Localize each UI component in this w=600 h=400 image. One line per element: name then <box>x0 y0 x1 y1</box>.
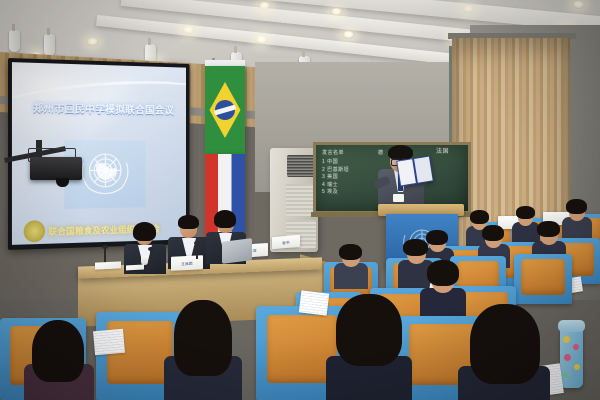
audience-delegate <box>458 304 550 400</box>
dais-laptop[interactable] <box>222 238 252 264</box>
ceiling-spotlight-icon <box>258 2 271 10</box>
ac-vent-grill <box>287 155 315 177</box>
dais-papers[interactable] <box>126 265 144 271</box>
dais-papers[interactable] <box>95 261 121 269</box>
microphone[interactable] <box>150 250 152 266</box>
dais-placard-right: 秘书 <box>272 235 300 249</box>
ceiling-spotlight-icon <box>462 5 475 13</box>
position-paper[interactable] <box>93 329 125 356</box>
position-paper[interactable] <box>299 290 329 315</box>
slide-title: 郑州市回民中学模拟联合国会议 <box>18 100 186 117</box>
ceiling-mounted-projector <box>30 157 82 180</box>
thermos-cap[interactable] <box>558 320 585 332</box>
ceiling-spotlight-icon <box>342 31 355 39</box>
flower-thermos-bottle[interactable] <box>560 326 583 388</box>
audience-delegate <box>24 320 94 400</box>
ceiling-speaker-box <box>9 30 20 52</box>
ceiling-spotlight-icon <box>255 36 268 44</box>
brazil-flag <box>205 66 245 154</box>
auditorium-photo: 郑州市回民中学模拟联合国会议 <box>0 0 600 400</box>
dais-placard-left: 主席团 <box>171 255 203 271</box>
ceiling-speaker-box <box>44 34 55 56</box>
ceiling-spotlight-icon <box>330 8 343 16</box>
blue-speech-folder <box>396 156 434 187</box>
ceiling-spotlight-icon <box>182 26 195 34</box>
microphone[interactable] <box>196 244 198 259</box>
ceiling-spotlight-icon <box>86 38 99 46</box>
chalkboard-speaker-list: 1 中国 2 巴基斯坦 3 美国 4 瑞士 5 埃及 <box>322 159 349 197</box>
audience-delegate <box>334 244 368 282</box>
audience-delegate <box>326 296 412 400</box>
ceiling-spotlight-icon <box>572 1 585 9</box>
auditorium-seat[interactable] <box>514 254 572 304</box>
chalkboard-country-note: 法国 <box>436 149 449 157</box>
audience-delegate <box>164 300 242 400</box>
chalkboard-heading: 发言名单 <box>322 150 344 158</box>
audience-delegate <box>562 200 592 232</box>
name-badge <box>393 194 404 202</box>
